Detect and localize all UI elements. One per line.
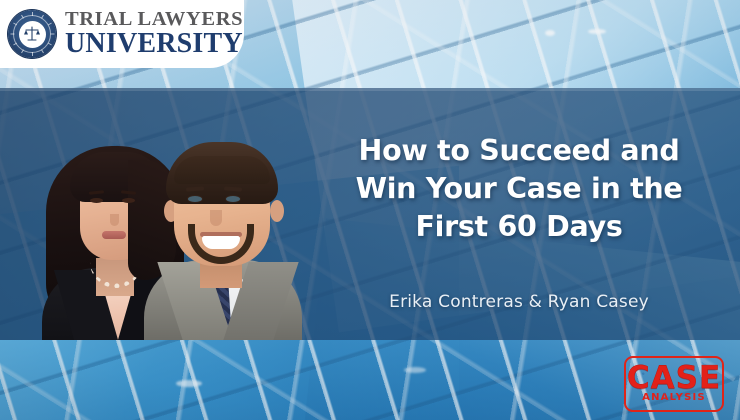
case-analysis-main-word: CASE [627, 365, 721, 391]
nose [110, 214, 119, 226]
content-band-top-edge [0, 88, 740, 91]
presenter-names: Erika Contreras & Ryan Casey [330, 292, 708, 312]
eye-right [226, 196, 240, 202]
scales-of-justice-icon [19, 21, 46, 48]
slide-title-line-3: First 60 Days [330, 208, 708, 246]
slide-title-line-2: Win Your Case in the [330, 170, 708, 208]
webinar-title-slide: TRIAL LAWYERS UNIVERSITY How to Succeed … [0, 0, 740, 420]
slide-title: How to Succeed and Win Your Case in the … [330, 132, 708, 246]
eye-left [188, 196, 202, 202]
slide-title-line-1: How to Succeed and [330, 132, 708, 170]
hair-forelock [174, 156, 270, 184]
teeth-smile [202, 236, 240, 249]
brand-wordmark: TRIAL LAWYERS UNIVERSITY [65, 10, 243, 57]
ear-right [270, 200, 284, 222]
case-analysis-logo: CASE ANALYSIS [624, 356, 724, 412]
university-seal-icon [8, 10, 56, 58]
brand-logo-banner: TRIAL LAWYERS UNIVERSITY [0, 0, 244, 68]
speaker-photos [34, 138, 302, 340]
ryan-casey-headshot [144, 138, 302, 340]
brand-line-university: UNIVERSITY [65, 31, 243, 58]
eye-left [90, 198, 103, 203]
case-analysis-sub-word: ANALYSIS [642, 392, 706, 403]
lips [102, 231, 126, 239]
eye-right [122, 198, 135, 203]
